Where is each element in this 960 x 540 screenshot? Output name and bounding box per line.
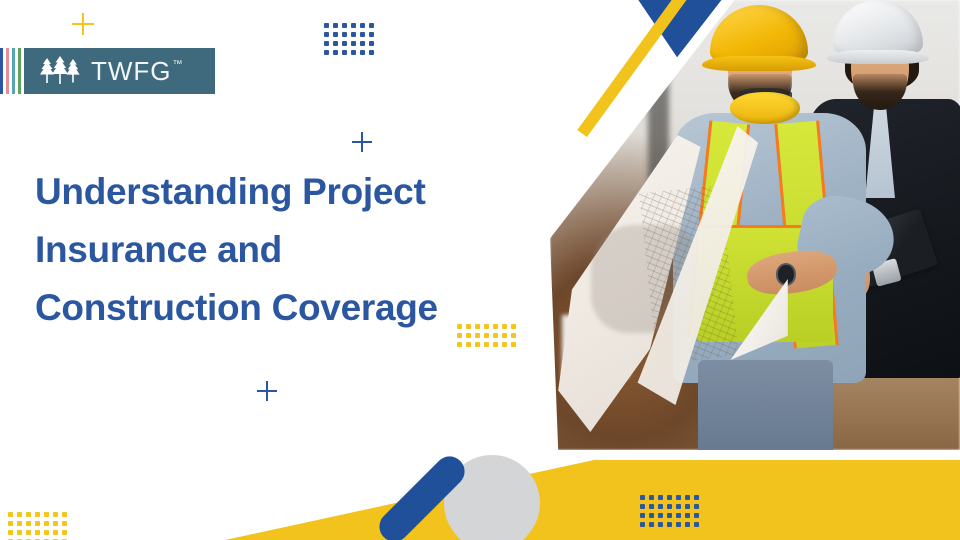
logo-wordmark: TWFG™	[91, 58, 184, 84]
yellow-hard-hat-brim	[702, 56, 817, 71]
page-title: Understanding Project Insurance and Cons…	[35, 163, 535, 337]
plus-mark-blue-middle	[352, 132, 372, 152]
logo-accent-stripes	[0, 48, 24, 94]
construction-scene-image	[550, 0, 960, 450]
plus-mark-yellow-top-left	[72, 13, 94, 35]
page-title-line-2: Insurance and	[35, 221, 535, 279]
dot-grid-blue-top	[324, 23, 375, 56]
twfg-logo[interactable]: TWFG™	[0, 48, 215, 94]
slide-canvas: TWFG™ Understanding Project Insurance an…	[0, 0, 960, 540]
dot-grid-blue-bottom-right	[640, 495, 700, 528]
trademark-symbol: ™	[173, 60, 184, 70]
page-title-line-3: Construction Coverage	[35, 279, 535, 337]
photo-inner	[550, 0, 960, 450]
plus-mark-blue-bottom	[257, 381, 277, 401]
worker-yellow-helmet-jeans	[698, 360, 833, 450]
photo-clip	[550, 0, 960, 450]
page-title-line-1: Understanding Project	[35, 163, 535, 221]
logo-box: TWFG™	[24, 48, 215, 94]
white-hard-hat-brim	[827, 50, 930, 64]
dot-grid-yellow-bottom-left	[8, 512, 68, 540]
three-pine-trees-icon	[38, 56, 82, 86]
ear-defenders-icon	[730, 92, 800, 124]
hero-photo	[540, 0, 960, 460]
logo-wordmark-text: TWFG	[91, 58, 172, 84]
